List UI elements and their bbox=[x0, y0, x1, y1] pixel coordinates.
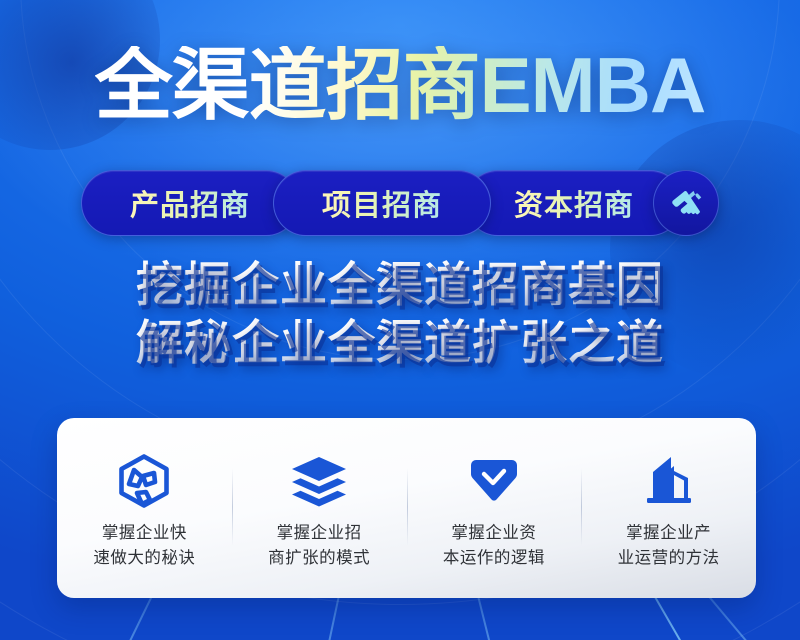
pill-row: 产品招商 项目招商 资本招商 bbox=[0, 170, 800, 236]
headline-1: 挖掘企业全渠道招商基因 bbox=[0, 256, 800, 314]
page-title: 全渠道招商EMBA bbox=[95, 46, 706, 124]
feature-text-line1: 掌握企业快 bbox=[102, 524, 187, 542]
pill-product-recruitment[interactable]: 产品招商 bbox=[81, 170, 299, 236]
title-block: 全渠道招商EMBA bbox=[0, 46, 800, 124]
feature-text: 掌握企业快 速做大的秘诀 bbox=[93, 521, 195, 571]
diamond-check-icon bbox=[467, 451, 521, 511]
feature-text-line2: 业运营的方法 bbox=[618, 549, 720, 567]
feature-item-1[interactable]: 掌握企业快 速做大的秘诀 bbox=[57, 418, 232, 598]
handshake-icon bbox=[666, 183, 706, 223]
feature-card: 掌握企业快 速做大的秘诀 掌握企业招 商扩张的模式 bbox=[57, 418, 756, 598]
stacked-layers-icon bbox=[290, 451, 348, 511]
pill-label: 产品招商 bbox=[130, 182, 250, 224]
feature-text: 掌握企业资 本运作的逻辑 bbox=[443, 521, 545, 571]
handshake-badge bbox=[653, 170, 719, 236]
feature-text-line1: 掌握企业招 bbox=[277, 524, 362, 542]
feature-text-line2: 商扩张的模式 bbox=[268, 549, 370, 567]
hexagon-cube-icon bbox=[117, 451, 171, 511]
feature-text: 掌握企业产 业运营的方法 bbox=[618, 521, 720, 571]
headline-block: 挖掘企业全渠道招商基因 解秘企业全渠道扩张之道 bbox=[0, 256, 800, 372]
building-icon bbox=[641, 451, 697, 511]
feature-text-line2: 本运作的逻辑 bbox=[443, 549, 545, 567]
feature-text-line1: 掌握企业资 bbox=[451, 524, 536, 542]
pill-project-recruitment[interactable]: 项目招商 bbox=[273, 170, 491, 236]
feature-item-3[interactable]: 掌握企业资 本运作的逻辑 bbox=[407, 418, 582, 598]
pill-label: 资本招商 bbox=[514, 182, 634, 224]
feature-text-line1: 掌握企业产 bbox=[626, 524, 711, 542]
headline-2: 解秘企业全渠道扩张之道 bbox=[0, 314, 800, 372]
feature-item-2[interactable]: 掌握企业招 商扩张的模式 bbox=[232, 418, 407, 598]
poster-root: 全渠道招商EMBA 产品招商 项目招商 资本招商 挖掘企业全渠道招商基因 bbox=[0, 0, 800, 640]
feature-text-line2: 速做大的秘诀 bbox=[93, 549, 195, 567]
pill-label: 项目招商 bbox=[322, 182, 442, 224]
feature-text: 掌握企业招 商扩张的模式 bbox=[268, 521, 370, 571]
feature-item-4[interactable]: 掌握企业产 业运营的方法 bbox=[581, 418, 756, 598]
pill-capital-recruitment[interactable]: 资本招商 bbox=[465, 170, 683, 236]
